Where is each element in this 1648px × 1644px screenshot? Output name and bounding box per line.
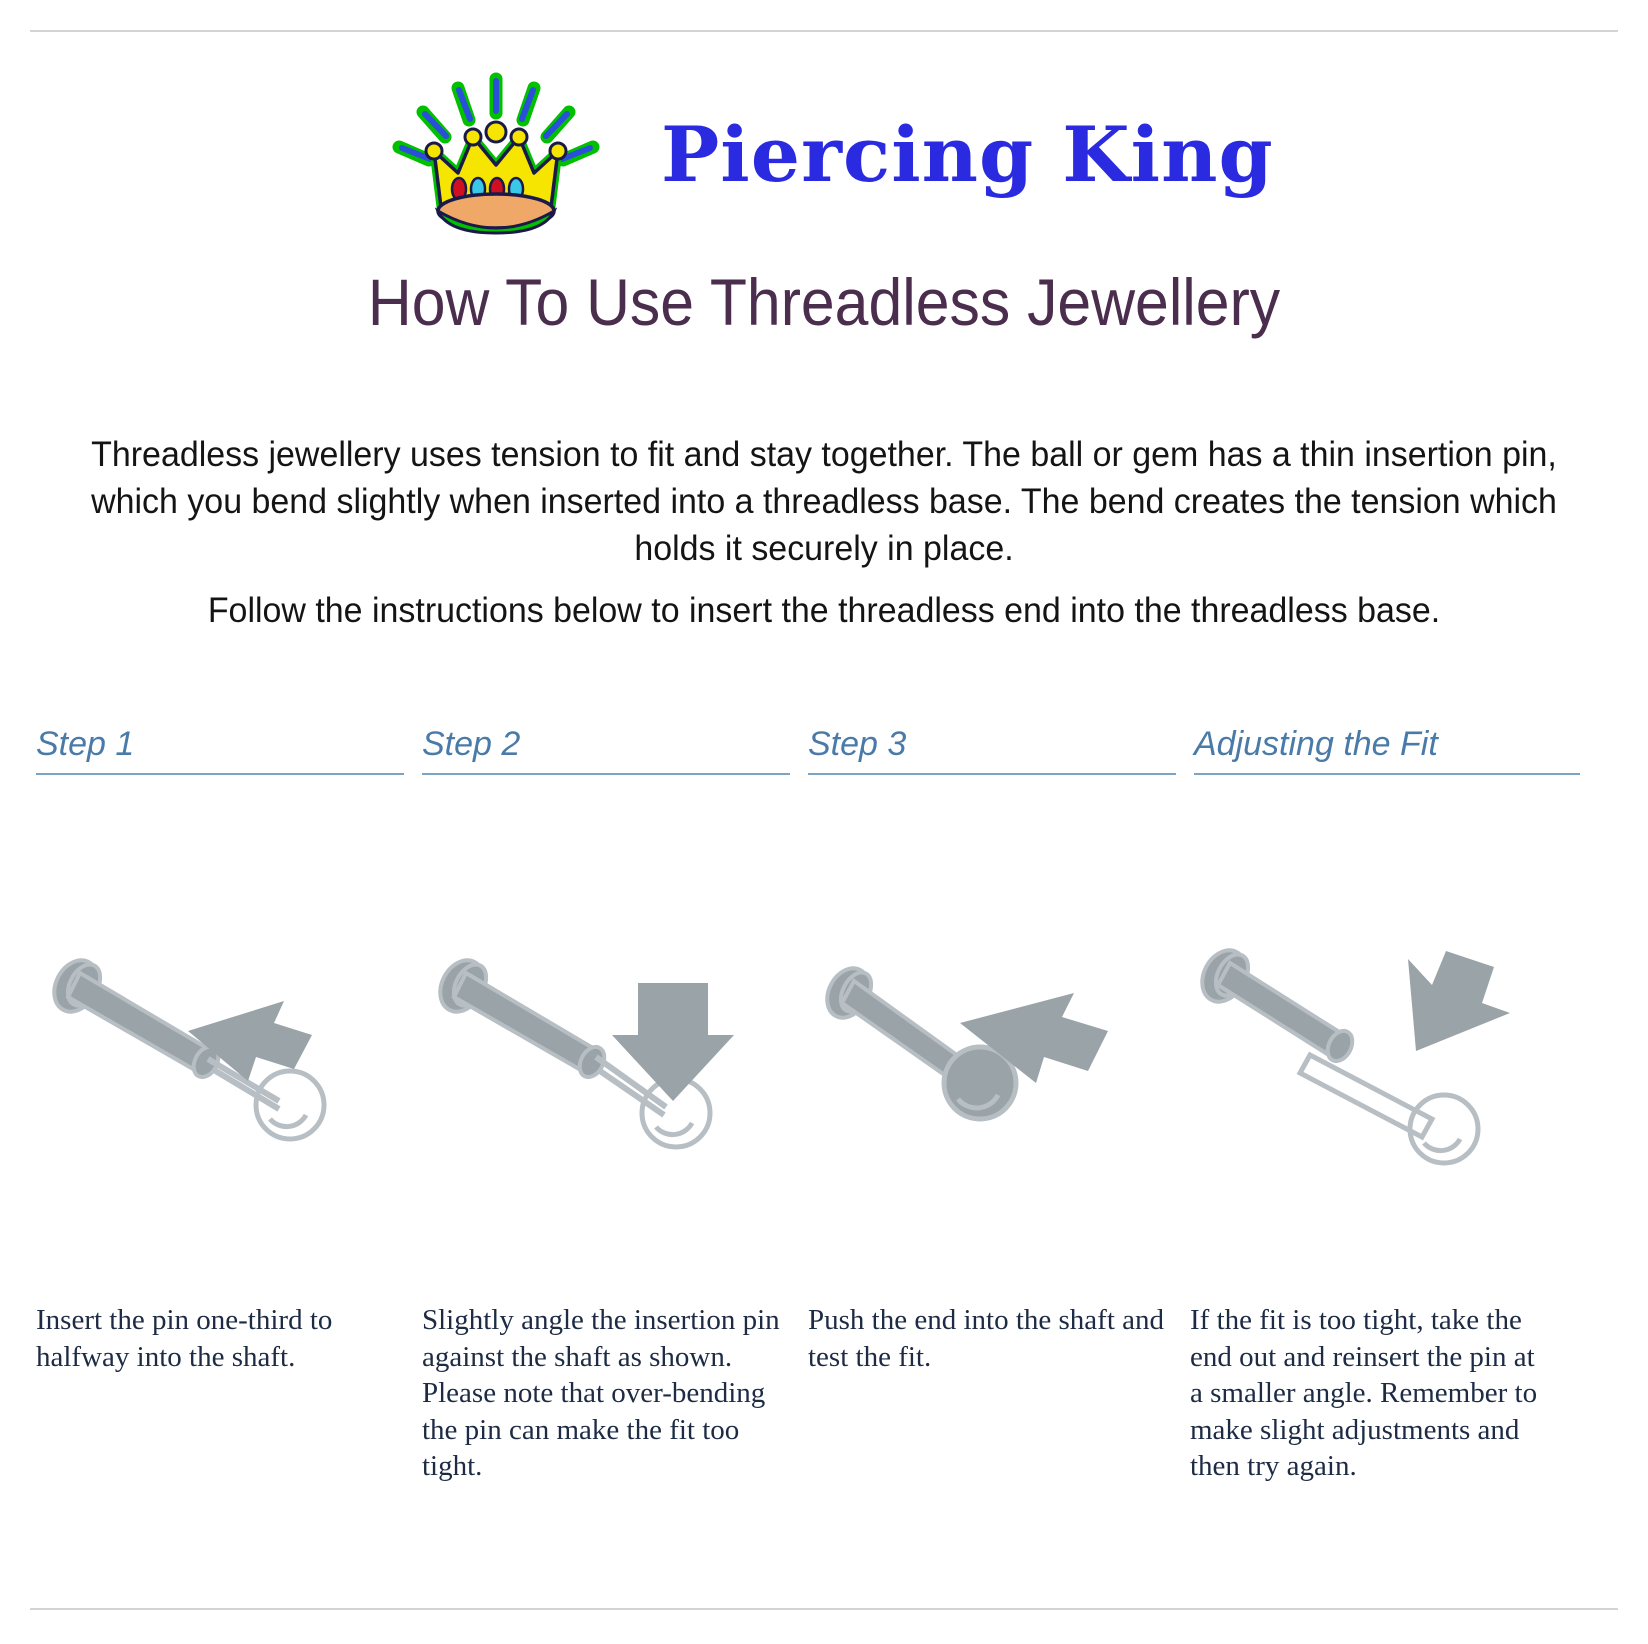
step-column-3: Step 3 (808, 726, 1194, 1343)
step-heading-1: Step 1 (36, 726, 404, 775)
steps-row: Step 1 (36, 726, 1620, 1343)
labret-pin-arrow-down-icon (422, 923, 808, 1343)
masthead: Piercing King (0, 62, 1648, 242)
crown-icon (381, 65, 611, 240)
intro-paragraph-1: Threadless jewellery uses tension to fit… (64, 432, 1585, 573)
footer-divider (30, 1608, 1618, 1610)
step-caption-1: Insert the pin one-third to halfway into… (36, 1302, 396, 1375)
labret-pin-arrow-upleft-icon (36, 923, 422, 1343)
header-divider (30, 30, 1618, 32)
arrow-downright (1408, 951, 1510, 1051)
intro-paragraph-2: Follow the instructions below to insert … (64, 588, 1585, 635)
step-heading-2: Step 2 (422, 726, 790, 775)
step-column-2: Step 2 (422, 726, 808, 1343)
labret-pin-seated-arrow-upleft-icon (808, 923, 1194, 1343)
page-title: How To Use Threadless Jewellery (66, 268, 1582, 337)
step-caption-3: Push the end into the shaft and test the… (808, 1302, 1168, 1375)
step-column-1: Step 1 (36, 726, 422, 1343)
step-heading-3: Step 3 (808, 726, 1176, 775)
step-caption-2: Slightly angle the insertion pin against… (422, 1302, 782, 1485)
labret-pin-removed-arrow-downright-icon (1194, 923, 1580, 1343)
brand-wordmark: Piercing King (661, 117, 1274, 193)
step-caption-4: If the fit is too tight, take the end ou… (1190, 1302, 1550, 1485)
document-page: Piercing King How To Use Threadless Jewe… (0, 0, 1648, 1644)
step-column-4: Adjusting the Fit (1194, 726, 1580, 1343)
step-heading-4: Adjusting the Fit (1194, 726, 1580, 775)
